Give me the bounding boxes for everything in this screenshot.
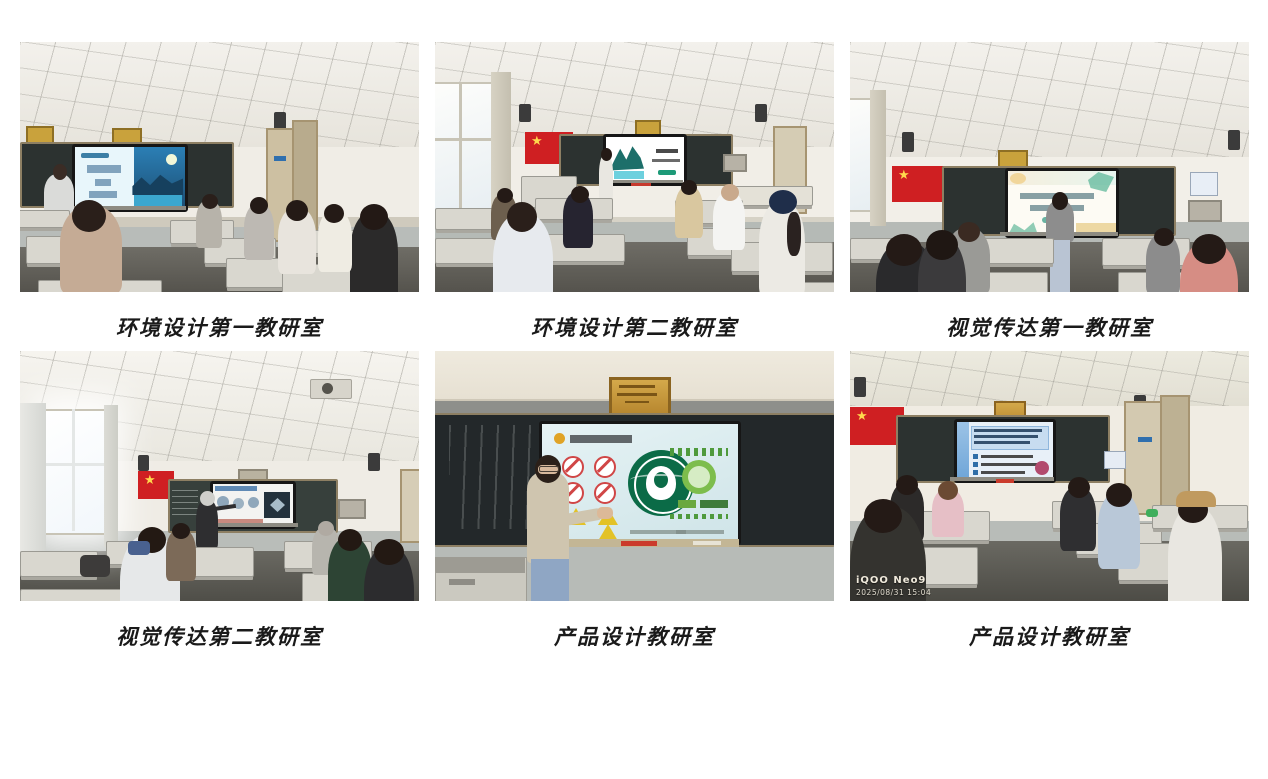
photo-cell-6: iQOO Neo9 2025/08/31 15:04 产品设计教研室: [850, 351, 1249, 651]
student-head: [172, 523, 190, 539]
photo-grid: 环境设计第一教研室: [20, 42, 1249, 651]
youth-league-flag: [892, 166, 946, 202]
student-head: [571, 186, 589, 203]
student-head: [681, 180, 697, 195]
student-head: [958, 222, 980, 242]
participant-head: [1106, 483, 1132, 507]
prohibition-sign-icon: [562, 456, 584, 478]
participant-head: [1068, 477, 1090, 498]
wall-speaker-icon: [368, 453, 380, 471]
wall-speaker-icon: [519, 104, 531, 122]
prohibition-sign-icon: [594, 456, 616, 478]
student-head: [497, 188, 513, 203]
cap-icon: [1176, 491, 1216, 507]
student-head: [886, 234, 922, 266]
student-head: [324, 204, 344, 223]
student-head: [202, 194, 218, 209]
curtain: [870, 90, 886, 226]
participant-head: [896, 475, 918, 495]
photo-1-image: [20, 42, 419, 292]
photo-caption-2: 环境设计第二教研室: [531, 312, 738, 342]
student-head: [721, 184, 739, 201]
presentation-screen: [954, 419, 1056, 483]
participant-head: [864, 499, 902, 533]
photo-cell-5: 产品设计教研室: [435, 351, 834, 651]
projector-lens-icon: [322, 383, 333, 394]
wall-speaker-icon: [1228, 130, 1240, 150]
photo-caption-3: 视觉传达第一教研室: [946, 312, 1153, 342]
student-head: [286, 200, 308, 221]
photo-3-image: [850, 42, 1249, 292]
student-head: [1154, 228, 1174, 246]
participant-head: [938, 481, 958, 500]
teacher-head: [1052, 192, 1068, 210]
interactive-screen: [539, 421, 741, 545]
curtain: [20, 403, 46, 553]
photo-collage-page: 环境设计第一教研室: [0, 0, 1268, 779]
photo-cell-3: 视觉传达第一教研室: [850, 42, 1249, 342]
camera-watermark: iQOO Neo9 2025/08/31 15:04: [856, 575, 931, 597]
photo-5-image: [435, 351, 834, 601]
prohibition-sign-icon: [594, 482, 616, 504]
student-head: [318, 521, 334, 536]
photo-caption-5: 产品设计教研室: [554, 621, 715, 651]
photo-cell-4: 视觉传达第二教研室: [20, 351, 419, 651]
window: [44, 409, 110, 535]
photo-cell-1: 环境设计第一教研室: [20, 42, 419, 342]
classroom-door: [400, 469, 419, 543]
photo-6-image: iQOO Neo9 2025/08/31 15:04: [850, 351, 1249, 601]
photo-cell-2: 环境设计第二教研室: [435, 42, 834, 342]
photo-caption-6: 产品设计教研室: [969, 621, 1130, 651]
student-head: [338, 529, 362, 551]
student-head: [250, 197, 268, 214]
photo-caption-4: 视觉传达第二教研室: [116, 621, 323, 651]
student-head: [374, 539, 404, 565]
interactive-screen: [603, 134, 687, 186]
student-head: [72, 200, 106, 232]
student-head: [1192, 234, 1226, 264]
teacher-head: [200, 491, 215, 506]
student-head: [360, 204, 388, 230]
photo-2-image: [435, 42, 834, 292]
photo-caption-1: 环境设计第一教研室: [116, 312, 323, 342]
wall-speaker-icon: [755, 104, 767, 122]
window: [435, 82, 497, 218]
photo-4-image: [20, 351, 419, 601]
watermark-timestamp: 2025/08/31 15:04: [856, 588, 931, 597]
student-desk: [435, 208, 497, 230]
wall-speaker-icon: [902, 132, 914, 152]
teacher-head: [53, 164, 67, 180]
student-head: [926, 230, 958, 260]
watermark-device: iQOO Neo9: [856, 575, 926, 586]
wall-speaker-icon: [854, 377, 866, 397]
student-head: [769, 190, 797, 214]
honor-plaque: [609, 377, 671, 417]
student-head: [507, 202, 537, 232]
curtain: [104, 405, 118, 547]
wall-speaker-icon: [138, 455, 149, 471]
teacher-head: [601, 148, 612, 161]
